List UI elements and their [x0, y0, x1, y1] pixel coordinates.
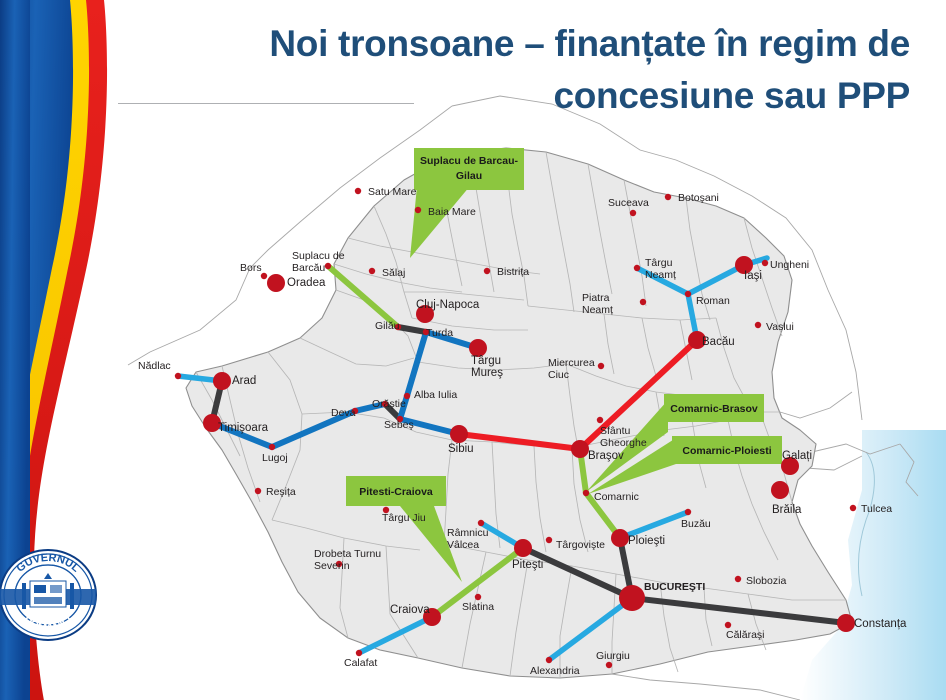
city-dot [634, 265, 640, 271]
city-label: Braşov [588, 450, 624, 462]
city-label: Piteşti [512, 559, 543, 571]
page-title: Noi tronsoane – finanțate în regim de co… [120, 18, 910, 122]
city-dot [571, 440, 589, 458]
city-label: Giurgiu [596, 650, 630, 662]
city-dot [478, 520, 484, 526]
city-dot [267, 274, 285, 292]
city-label: Buzău [681, 518, 711, 530]
city-marker: Orăştie [372, 398, 406, 410]
callout-suplacu-line2: Gilau [456, 170, 482, 182]
city-label: Târgovişte [556, 539, 605, 551]
city-label: Calafat [344, 657, 377, 669]
city-dot [514, 539, 532, 557]
city-dot [685, 291, 691, 297]
city-label: Comarnic [594, 491, 639, 503]
city-dot [175, 373, 181, 379]
city-label: Târgu Jiu [382, 512, 426, 524]
city-marker: Bors [240, 262, 267, 279]
city-label: Reşița [266, 486, 296, 498]
city-dot [583, 490, 589, 496]
city-dot [665, 194, 671, 200]
brand-band-svg: GUVERNUL ROMÂNIEI [0, 0, 170, 700]
city-label: Brăila [772, 504, 802, 516]
city-label: Lugoj [262, 452, 288, 464]
city-label: Roman [696, 295, 730, 307]
city-dot [685, 509, 691, 515]
city-dot [725, 622, 731, 628]
city-label: Sibiu [448, 443, 474, 455]
city-label: Cluj-Napoca [416, 299, 480, 311]
city-label: Alexandria [530, 665, 580, 677]
city-dot [837, 614, 855, 632]
callout-pitesti-craiova-label: Pitesti-Craiova [359, 486, 433, 498]
city-dot [369, 268, 375, 274]
city-label: Galați [782, 450, 812, 462]
city-dot [640, 299, 646, 305]
city-dot [450, 425, 468, 443]
city-marker: Gilău [375, 320, 401, 332]
slide-root: Suplacu de Barcau- Gilau Comarnic-Brasov… [0, 0, 946, 700]
city-label: Constanța [854, 618, 907, 630]
city-dot [546, 657, 552, 663]
city-label: Bors [240, 262, 262, 274]
city-dot [269, 444, 275, 450]
callout-comarnic-ploiesti-label: Comarnic-Ploiesti [682, 445, 771, 457]
city-label: Timişoara [218, 422, 269, 434]
city-marker: Oradea [267, 274, 326, 292]
city-label: Sălaj [382, 267, 405, 279]
city-dot [261, 273, 267, 279]
guvernul-romaniei-emblem: GUVERNUL ROMÂNIEI [0, 550, 96, 640]
city-label: Oradea [287, 277, 326, 289]
city-label: Ploieşti [628, 535, 665, 547]
city-marker: Deva [331, 407, 358, 419]
city-label: Slatina [462, 601, 494, 613]
city-marker: Turda [423, 327, 453, 339]
brand-band: GUVERNUL ROMÂNIEI [0, 0, 170, 700]
callout-suplacu-line1: Suplacu de Barcau- [420, 155, 519, 167]
city-dot [475, 594, 481, 600]
city-dot [755, 322, 761, 328]
city-dot [598, 363, 604, 369]
city-dot [415, 207, 421, 213]
city-label: Botoşani [678, 192, 719, 204]
city-marker: Satu Mare [355, 186, 417, 198]
city-label: Iaşi [744, 270, 762, 282]
city-marker: Calafat [344, 650, 377, 669]
city-dot [255, 488, 261, 494]
city-label: Craiova [390, 604, 430, 616]
city-label: Deva [331, 407, 356, 419]
city-label: Suceava [608, 197, 649, 209]
city-dot [850, 505, 856, 511]
city-label: Slobozia [746, 575, 786, 587]
callout-comarnic-brasov-label: Comarnic-Brasov [670, 403, 758, 415]
city-label: Vaslui [766, 321, 794, 333]
city-label: Alba Iulia [414, 389, 457, 401]
city-dot [619, 585, 645, 611]
city-dot [771, 481, 789, 499]
city-dot [213, 372, 231, 390]
city-dot [611, 529, 629, 547]
city-label: Bistrița [497, 266, 529, 278]
city-label: Ungheni [770, 259, 809, 271]
city-label: Sebeş [384, 419, 414, 431]
city-label: TârguMureş [471, 355, 503, 379]
city-label: PiatraNeamț [582, 292, 613, 316]
city-dot [597, 417, 603, 423]
city-label: Bacău [702, 336, 735, 348]
city-dot [325, 263, 331, 269]
city-label: Turda [426, 327, 453, 339]
city-dot [484, 268, 490, 274]
city-dot [762, 260, 768, 266]
city-dot [356, 650, 362, 656]
city-label: Gilău [375, 320, 400, 332]
city-label: Orăştie [372, 398, 406, 410]
page-title-line1: Noi tronsoane – finanțate în regim de [120, 18, 910, 70]
city-dot [630, 210, 636, 216]
city-label: Călăraşi [726, 629, 765, 641]
city-label: Baia Mare [428, 206, 476, 218]
city-label: Arad [232, 375, 256, 387]
city-dot [735, 576, 741, 582]
city-dot [546, 537, 552, 543]
city-marker: Sebeş [384, 416, 414, 431]
city-label: Satu Mare [368, 186, 417, 198]
city-label: BUCUREŞTI [644, 581, 705, 593]
city-dot [606, 662, 612, 668]
page-title-line2: concesiune sau PPP [120, 70, 910, 122]
city-label: TârguNeamț [645, 257, 676, 281]
city-label: Tulcea [861, 503, 892, 515]
city-dot [355, 188, 361, 194]
